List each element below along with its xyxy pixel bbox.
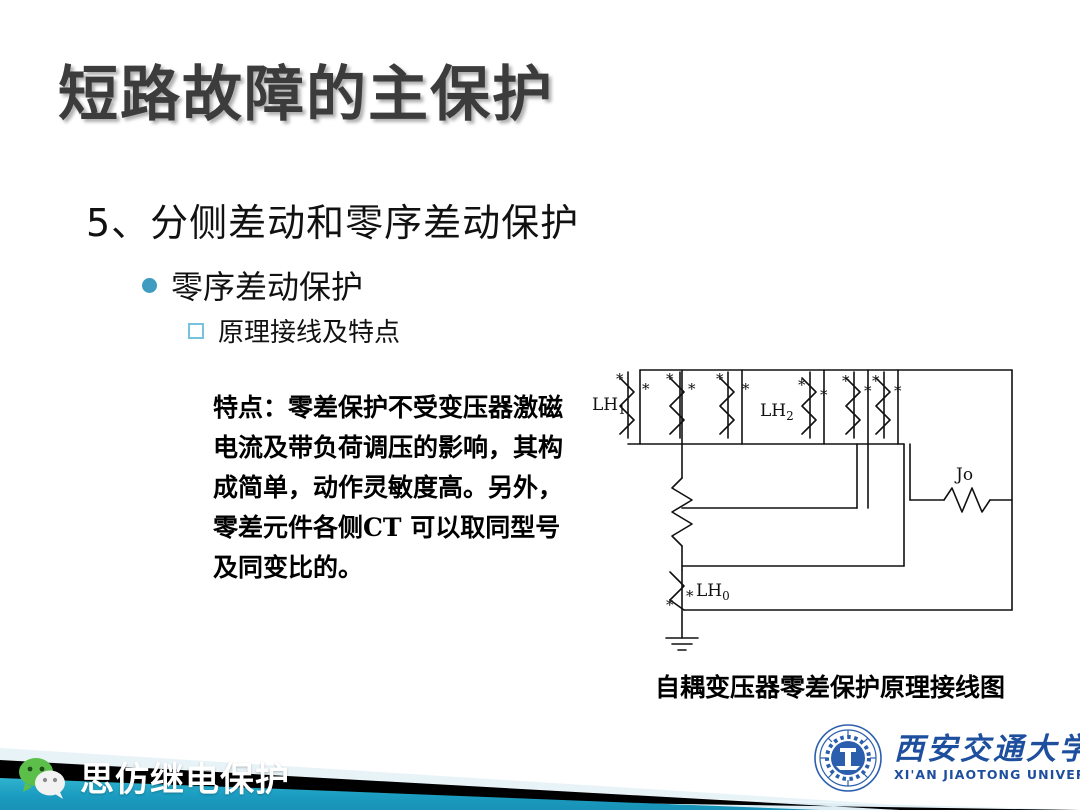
- outline-level3: 原理接线及特点: [188, 312, 400, 349]
- university-names: 西安交通大学 XI'AN JIAOTONG UNIVERSITY: [894, 735, 1080, 782]
- page-title: 短路故障的主保护: [58, 46, 554, 133]
- outline-level3-label: 原理接线及特点: [218, 312, 400, 349]
- polarity-mark: *: [616, 370, 624, 388]
- circuit-diagram: * * * * * * * * * * * * * * LH1 LH2 LH0 …: [592, 358, 1022, 658]
- outline-level1: 5、分侧差动和零序差动保护: [86, 192, 579, 247]
- bullet-square-icon: [188, 323, 204, 339]
- circuit-diagram-svg: * * * * * * * * * * * * * * LH1 LH2 LH0 …: [592, 358, 1022, 658]
- polarity-mark: *: [716, 370, 724, 388]
- polarity-mark: *: [688, 380, 696, 398]
- label-lh2: LH2: [760, 401, 794, 423]
- body-paragraph: 特点：零差保护不受变压器激磁电流及带负荷调压的影响，其构成简单，动作灵敏度高。另…: [213, 388, 565, 588]
- polarity-mark: *: [642, 380, 650, 398]
- brand-lockup: 思仿继电保护: [16, 752, 290, 801]
- polarity-mark: *: [894, 382, 902, 400]
- label-lh1: LH1: [592, 395, 626, 417]
- polarity-marks: * * * * * * * * * * * * * *: [616, 370, 902, 614]
- polarity-mark: *: [864, 382, 872, 400]
- wechat-icon: [16, 755, 70, 799]
- polarity-mark: *: [666, 370, 674, 388]
- university-name-cn: 西安交通大学: [894, 735, 1080, 765]
- outline-level2: 零序差动保护: [142, 262, 363, 308]
- brand-text: 思仿继电保护: [80, 752, 290, 801]
- polarity-mark: *: [872, 372, 880, 390]
- polarity-mark: *: [798, 376, 806, 394]
- slide-canvas: 短路故障的主保护 5、分侧差动和零序差动保护 零序差动保护 原理接线及特点 特点…: [0, 0, 1080, 810]
- label-lh0: LH0: [696, 581, 730, 603]
- bullet-dot-icon: [142, 278, 157, 293]
- university-name-en: XI'AN JIAOTONG UNIVERSITY: [894, 769, 1080, 782]
- polarity-mark: *: [742, 380, 750, 398]
- polarity-mark: *: [820, 386, 828, 404]
- label-jo: Jo: [954, 465, 973, 485]
- polarity-mark: *: [842, 372, 850, 390]
- outline-level2-label: 零序差动保护: [171, 262, 363, 308]
- figure-caption: 自耦变压器零差保护原理接线图: [655, 668, 1005, 704]
- university-emblem-icon: [812, 722, 884, 794]
- polarity-mark: *: [666, 596, 674, 614]
- polarity-mark: *: [686, 587, 694, 605]
- university-logo: 西安交通大学 XI'AN JIAOTONG UNIVERSITY: [812, 722, 1080, 794]
